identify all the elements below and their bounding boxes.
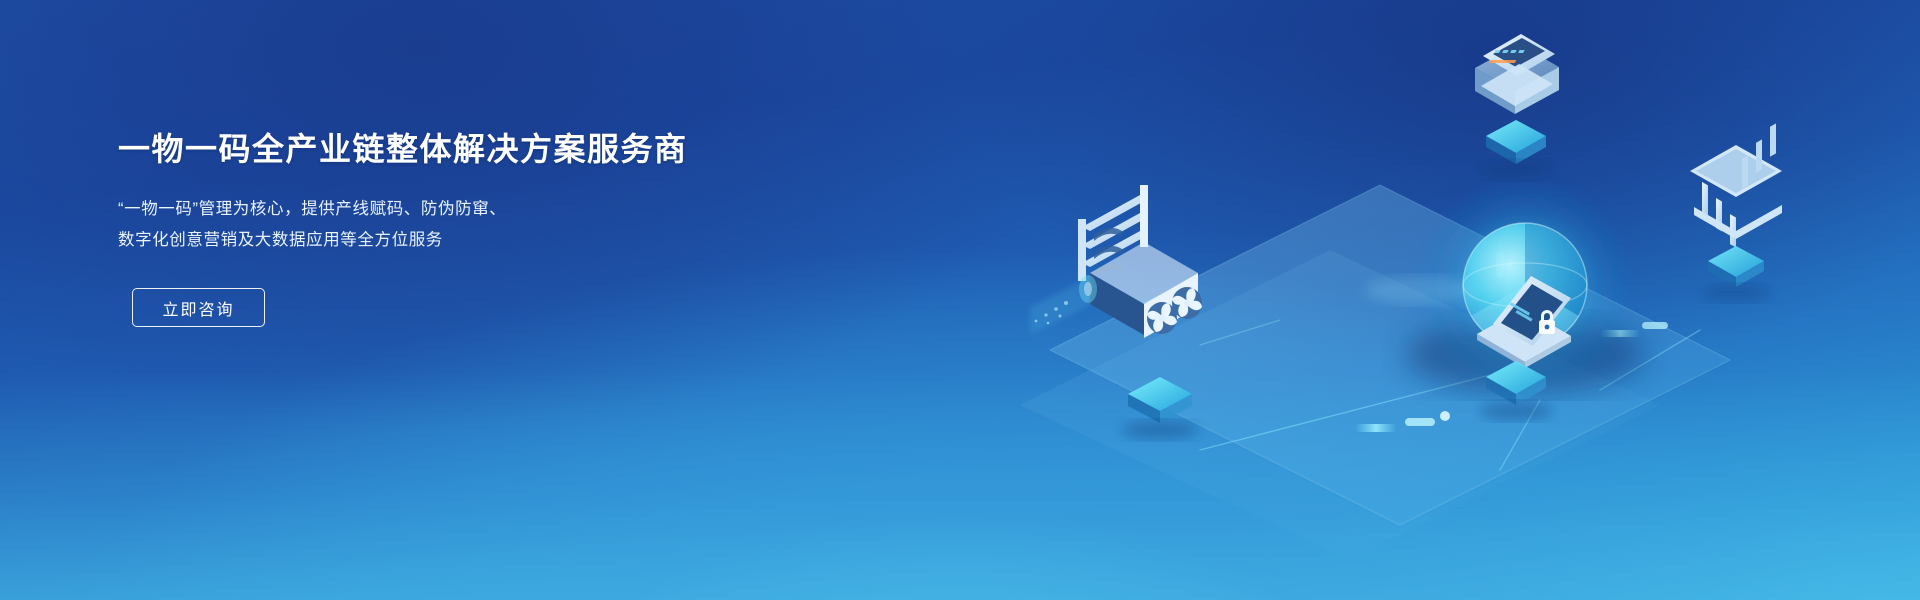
hero-copy: 一物一码全产业链整体解决方案服务商 “一物一码”管理为核心，提供产线赋码、防伪防… xyxy=(118,130,758,327)
page-title: 一物一码全产业链整体解决方案服务商 xyxy=(118,130,758,168)
hero-subtitle-line-1: “一物一码”管理为核心，提供产线赋码、防伪防窜、 xyxy=(118,194,758,225)
hero-illustration xyxy=(900,0,1920,600)
fan-blades-left xyxy=(1172,287,1202,319)
pedestal-pos xyxy=(1480,120,1552,180)
hero-banner: 一物一码全产业链整体解决方案服务商 “一物一码”管理为核心，提供产线赋码、防伪防… xyxy=(0,0,1920,600)
hero-subtitle-line-2: 数字化创意营销及大数据应用等全方位服务 xyxy=(118,225,758,256)
server-fan-rack-icon xyxy=(1030,185,1202,338)
pedestal-bank xyxy=(1702,246,1770,302)
hero-subtitle: “一物一码”管理为核心，提供产线赋码、防伪防窜、 数字化创意营销及大数据应用等全… xyxy=(118,194,758,256)
pos-terminal-icon xyxy=(1475,34,1559,114)
bank-building-icon xyxy=(1690,123,1782,247)
consult-now-button[interactable]: 立即咨询 xyxy=(132,288,265,327)
airflow-stream xyxy=(1030,275,1097,335)
